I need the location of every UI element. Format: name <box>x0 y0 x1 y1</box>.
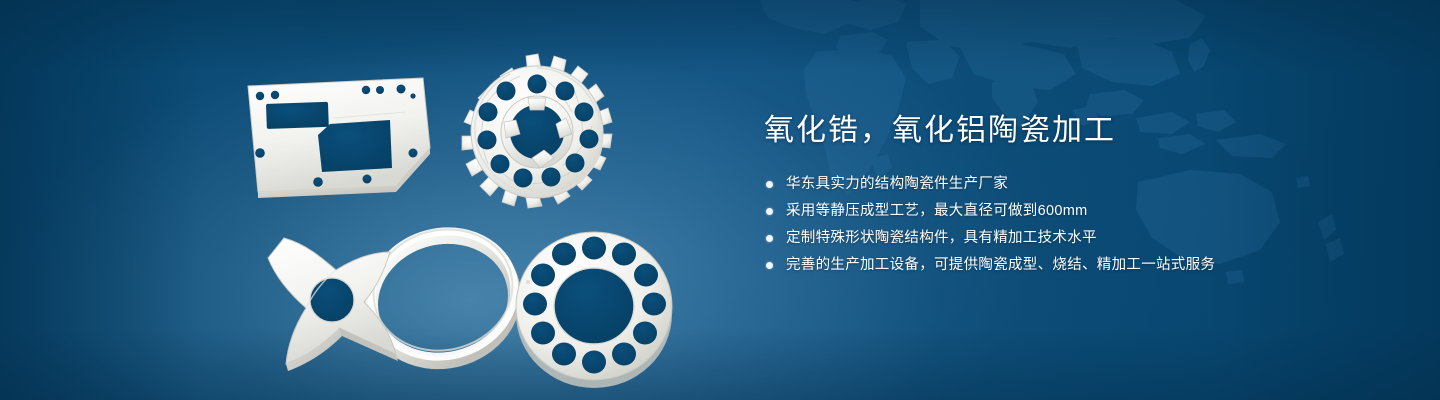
product-image-group <box>230 40 710 380</box>
feature-text: 完善的生产加工设备，可提供陶瓷成型、烧结、精加工一站式服务 <box>786 255 1215 275</box>
ceramic-perforated-disc <box>516 232 672 388</box>
list-item: 完善的生产加工设备，可提供陶瓷成型、烧结、精加工一站式服务 <box>766 255 1364 275</box>
bullet-icon <box>766 262 773 269</box>
list-item: 采用等静压成型工艺，最大直径可做到600mm <box>766 201 1364 221</box>
bullet-icon <box>766 181 773 188</box>
feature-list: 华东具实力的结构陶瓷件生产厂家 采用等静压成型工艺，最大直径可做到600mm 定… <box>766 174 1364 275</box>
hero-banner: 氧化锆，氧化铝陶瓷加工 华东具实力的结构陶瓷件生产厂家 采用等静压成型工艺，最大… <box>0 0 1440 400</box>
banner-copy: 氧化锆，氧化铝陶瓷加工 华东具实力的结构陶瓷件生产厂家 采用等静压成型工艺，最大… <box>764 112 1364 282</box>
ceramic-plate-with-cutouts <box>248 78 430 198</box>
bullet-icon <box>766 235 773 242</box>
feature-text: 华东具实力的结构陶瓷件生产厂家 <box>786 174 1008 194</box>
bullet-icon <box>766 208 773 215</box>
feature-text: 定制特殊形状陶瓷结构件，具有精加工技术水平 <box>786 228 1097 248</box>
list-item: 华东具实力的结构陶瓷件生产厂家 <box>766 174 1364 194</box>
list-item: 定制特殊形状陶瓷结构件，具有精加工技术水平 <box>766 228 1364 248</box>
ceramic-impeller-disc <box>462 54 612 208</box>
feature-text: 采用等静压成型工艺，最大直径可做到600mm <box>786 201 1087 221</box>
ceramic-star-plate <box>268 238 398 371</box>
page-title: 氧化锆，氧化铝陶瓷加工 <box>764 112 1364 150</box>
